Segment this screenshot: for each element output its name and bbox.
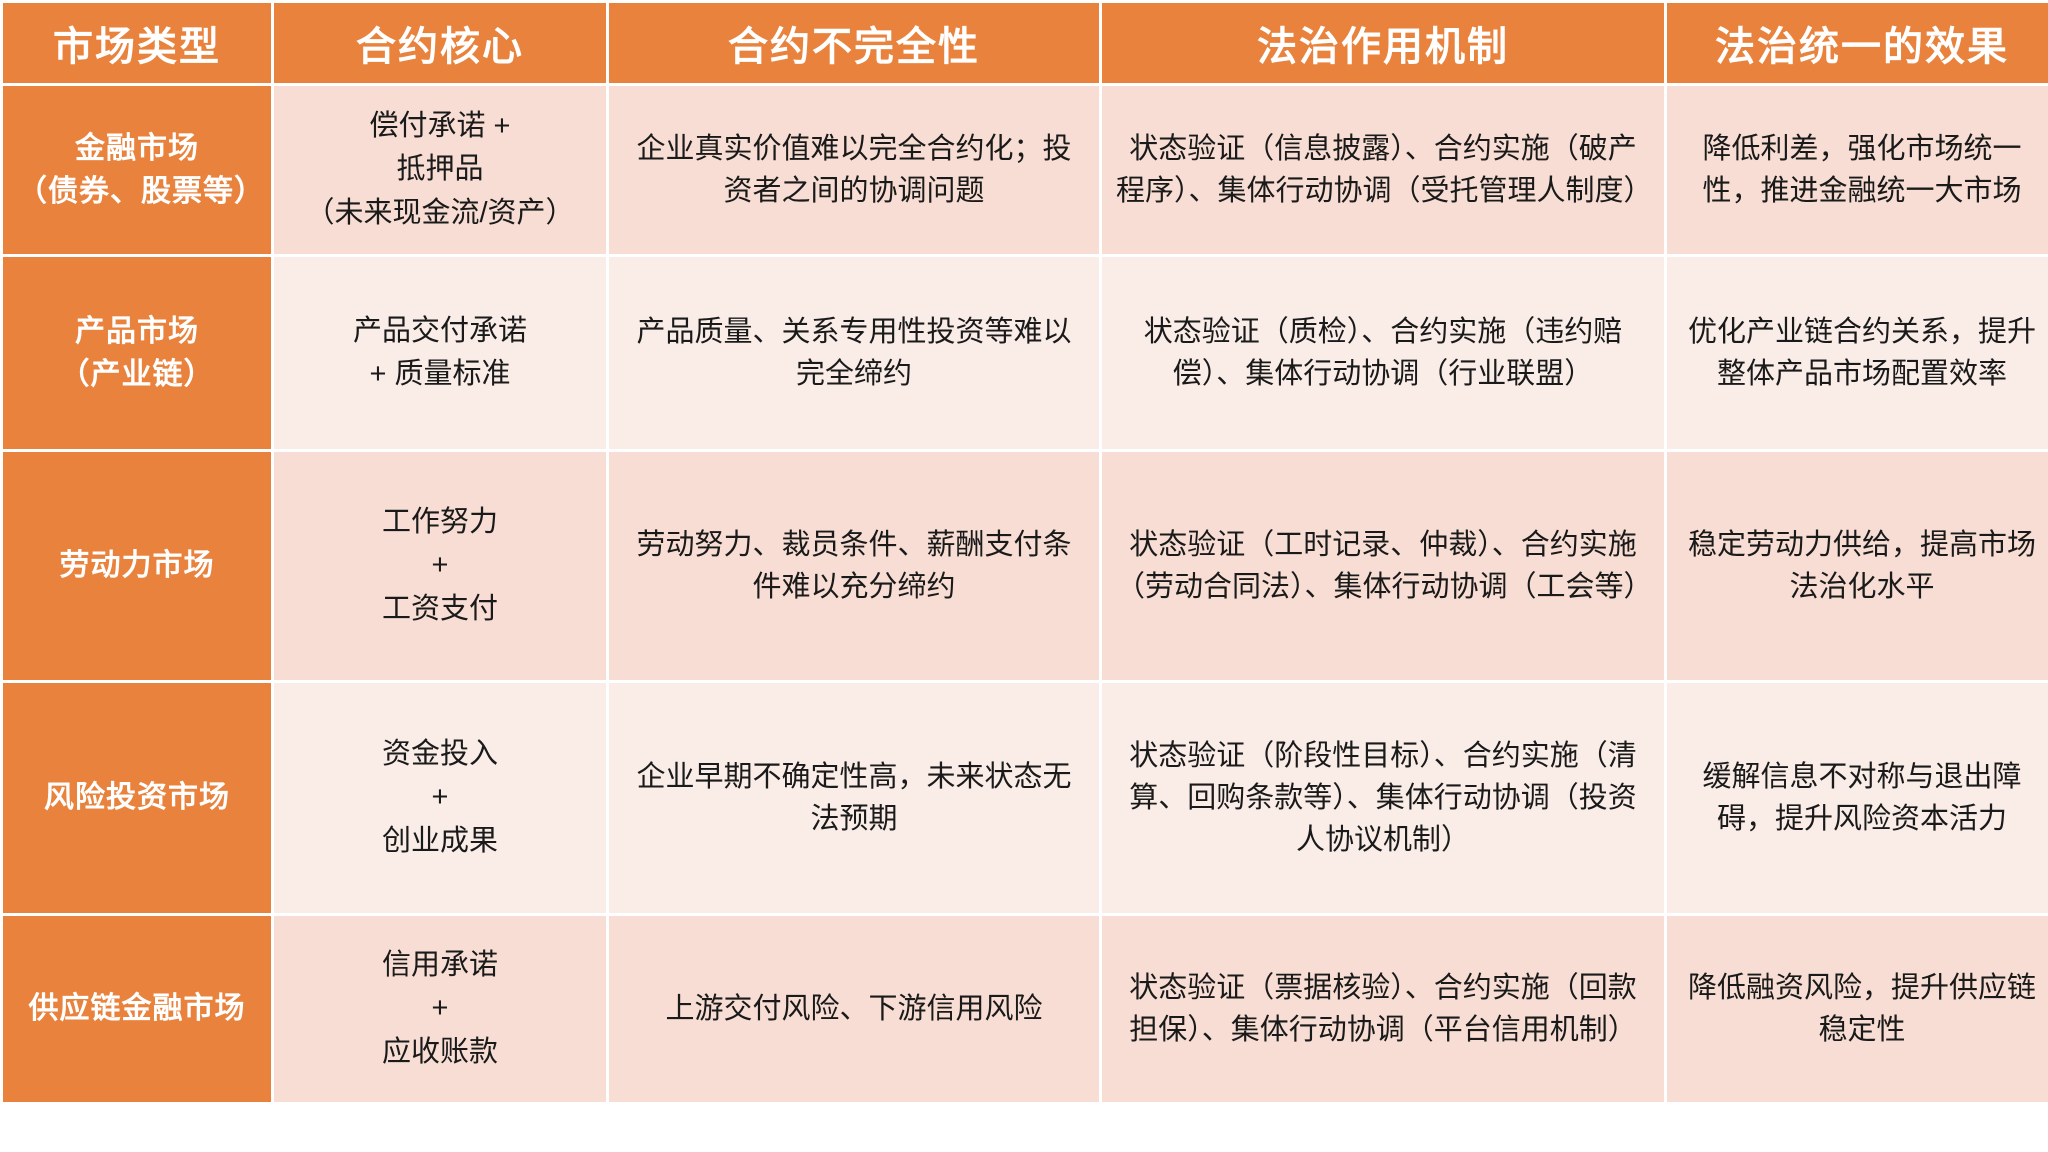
column-header-contract-incompleteness: 合约不完全性 xyxy=(609,3,1099,83)
table-row: 劳动力市场 工作努力 + 工资支付 劳动努力、裁员条件、薪酬支付条件难以充分缔约… xyxy=(3,452,2048,680)
cell-unified-law-effect: 降低融资风险，提升供应链稳定性 xyxy=(1667,916,2048,1102)
cell-unified-law-effect: 稳定劳动力供给，提高市场法治化水平 xyxy=(1667,452,2048,680)
cell-rule-of-law-mechanism: 状态验证（工时记录、仲裁）、合约实施（劳动合同法）、集体行动协调（工会等） xyxy=(1102,452,1664,680)
cell-contract-core: 信用承诺 + 应收账款 xyxy=(274,916,606,1102)
column-header-unified-law-effect: 法治统一的效果 xyxy=(1667,3,2048,83)
column-header-market-type: 市场类型 xyxy=(3,3,271,83)
cell-rule-of-law-mechanism: 状态验证（票据核验）、合约实施（回款担保）、集体行动协调（平台信用机制） xyxy=(1102,916,1664,1102)
table-body: 金融市场 （债券、股票等） 偿付承诺 + 抵押品 （未来现金流/资产） 企业真实… xyxy=(3,86,2048,1102)
market-contract-law-matrix: 市场类型 合约核心 合约不完全性 法治作用机制 法治统一的效果 金融市场 （债券… xyxy=(0,0,2048,1105)
table-row: 风险投资市场 资金投入 + 创业成果 企业早期不确定性高，未来状态无法预期 状态… xyxy=(3,683,2048,913)
table-header: 市场类型 合约核心 合约不完全性 法治作用机制 法治统一的效果 xyxy=(3,3,2048,83)
cell-contract-incompleteness: 企业真实价值难以完全合约化；投资者之间的协调问题 xyxy=(609,86,1099,254)
cell-contract-core: 资金投入 + 创业成果 xyxy=(274,683,606,913)
cell-market-type: 劳动力市场 xyxy=(3,452,271,680)
cell-unified-law-effect: 优化产业链合约关系，提升整体产品市场配置效率 xyxy=(1667,257,2048,449)
cell-rule-of-law-mechanism: 状态验证（阶段性目标）、合约实施（清算、回购条款等）、集体行动协调（投资人协议机… xyxy=(1102,683,1664,913)
column-header-rule-of-law-mechanism: 法治作用机制 xyxy=(1102,3,1664,83)
cell-contract-incompleteness: 上游交付风险、下游信用风险 xyxy=(609,916,1099,1102)
cell-rule-of-law-mechanism: 状态验证（质检）、合约实施（违约赔偿）、集体行动协调（行业联盟） xyxy=(1102,257,1664,449)
comparison-table-container: 市场类型 合约核心 合约不完全性 法治作用机制 法治统一的效果 金融市场 （债券… xyxy=(0,0,2048,1105)
cell-contract-incompleteness: 企业早期不确定性高，未来状态无法预期 xyxy=(609,683,1099,913)
table-row: 金融市场 （债券、股票等） 偿付承诺 + 抵押品 （未来现金流/资产） 企业真实… xyxy=(3,86,2048,254)
cell-market-type: 供应链金融市场 xyxy=(3,916,271,1102)
table-row: 产品市场 （产业链） 产品交付承诺 + 质量标准 产品质量、关系专用性投资等难以… xyxy=(3,257,2048,449)
header-row: 市场类型 合约核心 合约不完全性 法治作用机制 法治统一的效果 xyxy=(3,3,2048,83)
cell-contract-incompleteness: 劳动努力、裁员条件、薪酬支付条件难以充分缔约 xyxy=(609,452,1099,680)
cell-contract-core: 产品交付承诺 + 质量标准 xyxy=(274,257,606,449)
cell-contract-core: 偿付承诺 + 抵押品 （未来现金流/资产） xyxy=(274,86,606,254)
table-row: 供应链金融市场 信用承诺 + 应收账款 上游交付风险、下游信用风险 状态验证（票… xyxy=(3,916,2048,1102)
cell-unified-law-effect: 降低利差，强化市场统一性，推进金融统一大市场 xyxy=(1667,86,2048,254)
cell-rule-of-law-mechanism: 状态验证（信息披露）、合约实施（破产程序）、集体行动协调（受托管理人制度） xyxy=(1102,86,1664,254)
cell-contract-incompleteness: 产品质量、关系专用性投资等难以完全缔约 xyxy=(609,257,1099,449)
cell-unified-law-effect: 缓解信息不对称与退出障碍，提升风险资本活力 xyxy=(1667,683,2048,913)
column-header-contract-core: 合约核心 xyxy=(274,3,606,83)
cell-market-type: 金融市场 （债券、股票等） xyxy=(3,86,271,254)
cell-contract-core: 工作努力 + 工资支付 xyxy=(274,452,606,680)
cell-market-type: 风险投资市场 xyxy=(3,683,271,913)
cell-market-type: 产品市场 （产业链） xyxy=(3,257,271,449)
